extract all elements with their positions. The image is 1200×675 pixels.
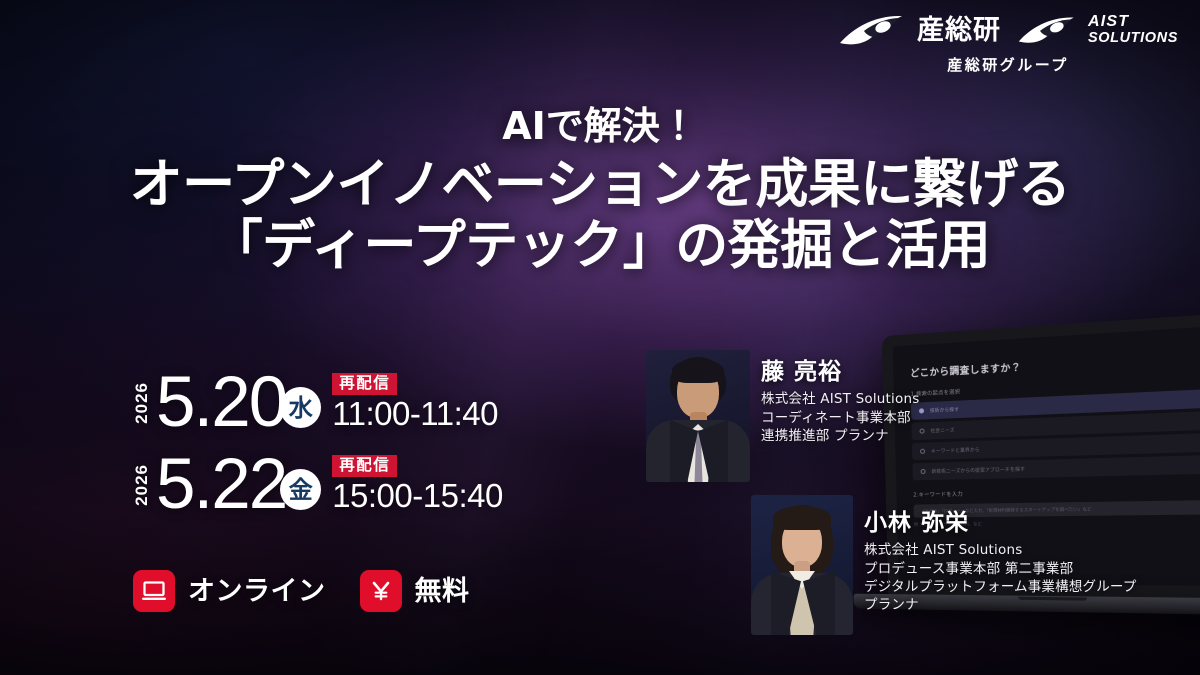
time-wrap: 再配信 15:00-15:40 (332, 455, 503, 515)
aist-solutions-line1: AIST (1088, 14, 1178, 30)
speaker-name: 小林 弥栄 (864, 511, 1137, 536)
speaker-affiliation-line: コーディネート事業本部 (761, 409, 919, 427)
radio-icon (919, 408, 924, 413)
webinar-banner: どこから調査しますか？ 1.検索の起点を選択 技術から探す 社会ニーズ キーワー… (0, 0, 1200, 675)
rebroadcast-badge: 再配信 (332, 373, 397, 395)
title-eyebrow: AIで解決！ (0, 106, 1200, 148)
badge-free-label: 無料 (415, 578, 470, 605)
badge-free: 無料 (360, 570, 470, 612)
speaker-affiliation: 株式会社 AIST Solutions コーディネート事業本部 連携推進部 プラ… (761, 390, 919, 445)
logo-bar: 産総研 AIST SOLUTIONS 産総研グループ (838, 13, 1178, 75)
date-year: 2026 (133, 464, 150, 506)
date-weekday-badge: 水 (280, 387, 321, 428)
speaker-card: 藤 亮裕 株式会社 AIST Solutions コーディネート事業本部 連携推… (646, 350, 919, 482)
badge-online-label: オンライン (188, 578, 326, 605)
aist-swoosh-icon (838, 13, 908, 47)
aist-solutions-logo: AIST SOLUTIONS (1017, 14, 1178, 46)
date-day: 5.22 (156, 452, 286, 517)
radio-icon (921, 469, 926, 474)
speaker-info: 藤 亮裕 株式会社 AIST Solutions コーディネート事業本部 連携推… (761, 350, 919, 445)
aist-logo-text: 産総研 (917, 17, 1001, 44)
speaker-affiliation-line: 連携推進部 プランナ (761, 427, 919, 445)
speaker-affiliation-line: プランナ (864, 596, 1137, 614)
speaker-info: 小林 弥栄 株式会社 AIST Solutions プロデュース事業本部 第二事… (864, 495, 1137, 615)
date-row: 2026 5.20 水 再配信 11:00-11:40 (133, 365, 503, 441)
radio-icon (920, 428, 925, 433)
laptop-icon (133, 570, 175, 612)
speaker-photo (751, 495, 853, 635)
radio-icon (920, 449, 925, 454)
page-title: オープンイノベーションを成果に繋げる 「ディープテック」の発掘と活用 (0, 154, 1200, 277)
rebroadcast-badge: 再配信 (332, 455, 397, 477)
screen-heading: どこから調査しますか？ (910, 349, 1200, 380)
title-line-2: 「ディープテック」の発掘と活用 (0, 215, 1200, 276)
info-badges: オンライン 無料 (133, 570, 470, 612)
aist-solutions-logo-text: AIST SOLUTIONS (1088, 14, 1178, 45)
aist-logo: 産総研 (838, 13, 1001, 47)
speaker-affiliation-line: プロデュース事業本部 第二事業部 (864, 560, 1137, 578)
logo-row: 産総研 AIST SOLUTIONS (838, 13, 1178, 47)
time-wrap: 再配信 11:00-11:40 (332, 373, 498, 433)
date-weekday-badge: 金 (280, 469, 321, 510)
logo-subtitle: 産総研グループ (947, 54, 1069, 75)
date-block: 2026 5.20 水 再配信 11:00-11:40 2026 5.22 金 … (133, 365, 503, 523)
speaker-name: 藤 亮裕 (761, 360, 919, 385)
session-time: 15:00-15:40 (332, 478, 503, 515)
session-time: 11:00-11:40 (332, 396, 498, 433)
speaker-affiliation-line: 株式会社 AIST Solutions (864, 541, 1137, 559)
date-year: 2026 (133, 382, 150, 424)
speaker-photo (646, 350, 750, 482)
screen-option-list: 技術から探す 社会ニーズ キーワードと業界から 新技術ニーズからの提案アプローチ… (911, 389, 1200, 480)
speaker-affiliation-line: デジタルプラットフォーム事業構想グループ (864, 578, 1137, 596)
title-line-1: オープンイノベーションを成果に繋げる (130, 154, 1071, 215)
speaker-affiliation-line: 株式会社 AIST Solutions (761, 390, 919, 408)
speaker-card: 小林 弥栄 株式会社 AIST Solutions プロデュース事業本部 第二事… (751, 495, 1137, 635)
title-block: AIで解決！ オープンイノベーションを成果に繋げる 「ディープテック」の発掘と活… (0, 106, 1200, 277)
aist-solutions-line2: SOLUTIONS (1088, 31, 1178, 46)
speaker-affiliation: 株式会社 AIST Solutions プロデュース事業本部 第二事業部 デジタ… (864, 541, 1137, 614)
aist-solutions-swoosh-icon (1017, 14, 1079, 46)
badge-online: オンライン (133, 570, 326, 612)
date-day: 5.20 (156, 370, 286, 435)
yen-icon (360, 570, 402, 612)
date-row: 2026 5.22 金 再配信 15:00-15:40 (133, 447, 503, 523)
